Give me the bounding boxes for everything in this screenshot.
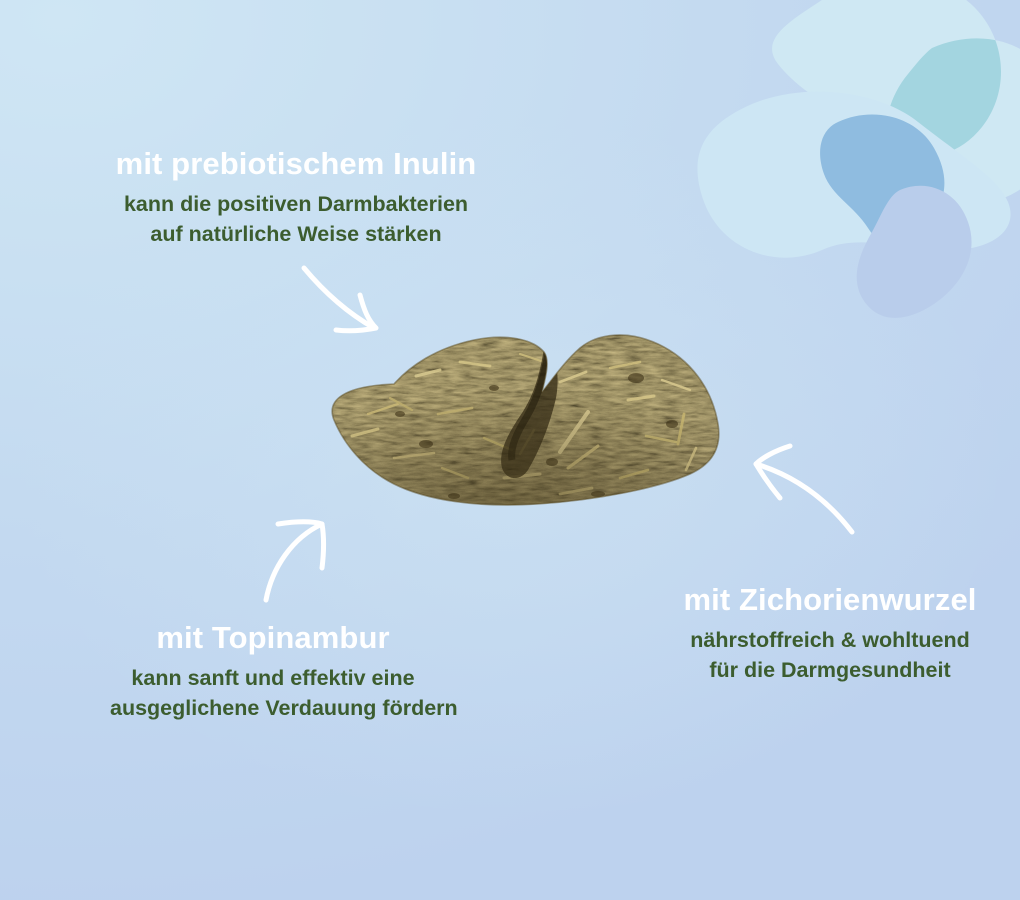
callout-topinambur-subline-1: kann sanft und effektiv eine — [110, 663, 436, 694]
callout-zichorienwurzel: mit Zichorienwurzel nährstoffreich & woh… — [676, 582, 984, 686]
product-image — [298, 318, 738, 523]
callout-topinambur: mit Topinambur kann sanft und effektiv e… — [110, 620, 436, 724]
callout-inulin-headline: mit prebiotischem Inulin — [110, 146, 482, 183]
infographic-canvas: mit prebiotischem Inulin kann die positi… — [0, 0, 1020, 900]
callout-topinambur-subline-2: ausgeglichene Verdauung fördern — [110, 693, 436, 724]
treat-body — [298, 318, 738, 523]
callout-zichorienwurzel-headline: mit Zichorienwurzel — [676, 582, 984, 619]
callout-inulin-subline-2: auf natürliche Weise stärken — [110, 219, 482, 250]
callout-inulin: mit prebiotischem Inulin kann die positi… — [110, 146, 482, 250]
callout-inulin-subtext: kann die positiven Darmbakterien auf nat… — [110, 189, 482, 250]
callout-inulin-subline-1: kann die positiven Darmbakterien — [110, 189, 482, 220]
callout-zichorienwurzel-subline-1: nährstoffreich & wohltuend — [676, 625, 984, 656]
callout-zichorienwurzel-subtext: nährstoffreich & wohltuend für die Darmg… — [676, 625, 984, 686]
callout-zichorienwurzel-subline-2: für die Darmgesundheit — [676, 655, 984, 686]
callout-topinambur-subtext: kann sanft und effektiv eine ausgegliche… — [110, 663, 436, 724]
callout-topinambur-headline: mit Topinambur — [110, 620, 436, 657]
